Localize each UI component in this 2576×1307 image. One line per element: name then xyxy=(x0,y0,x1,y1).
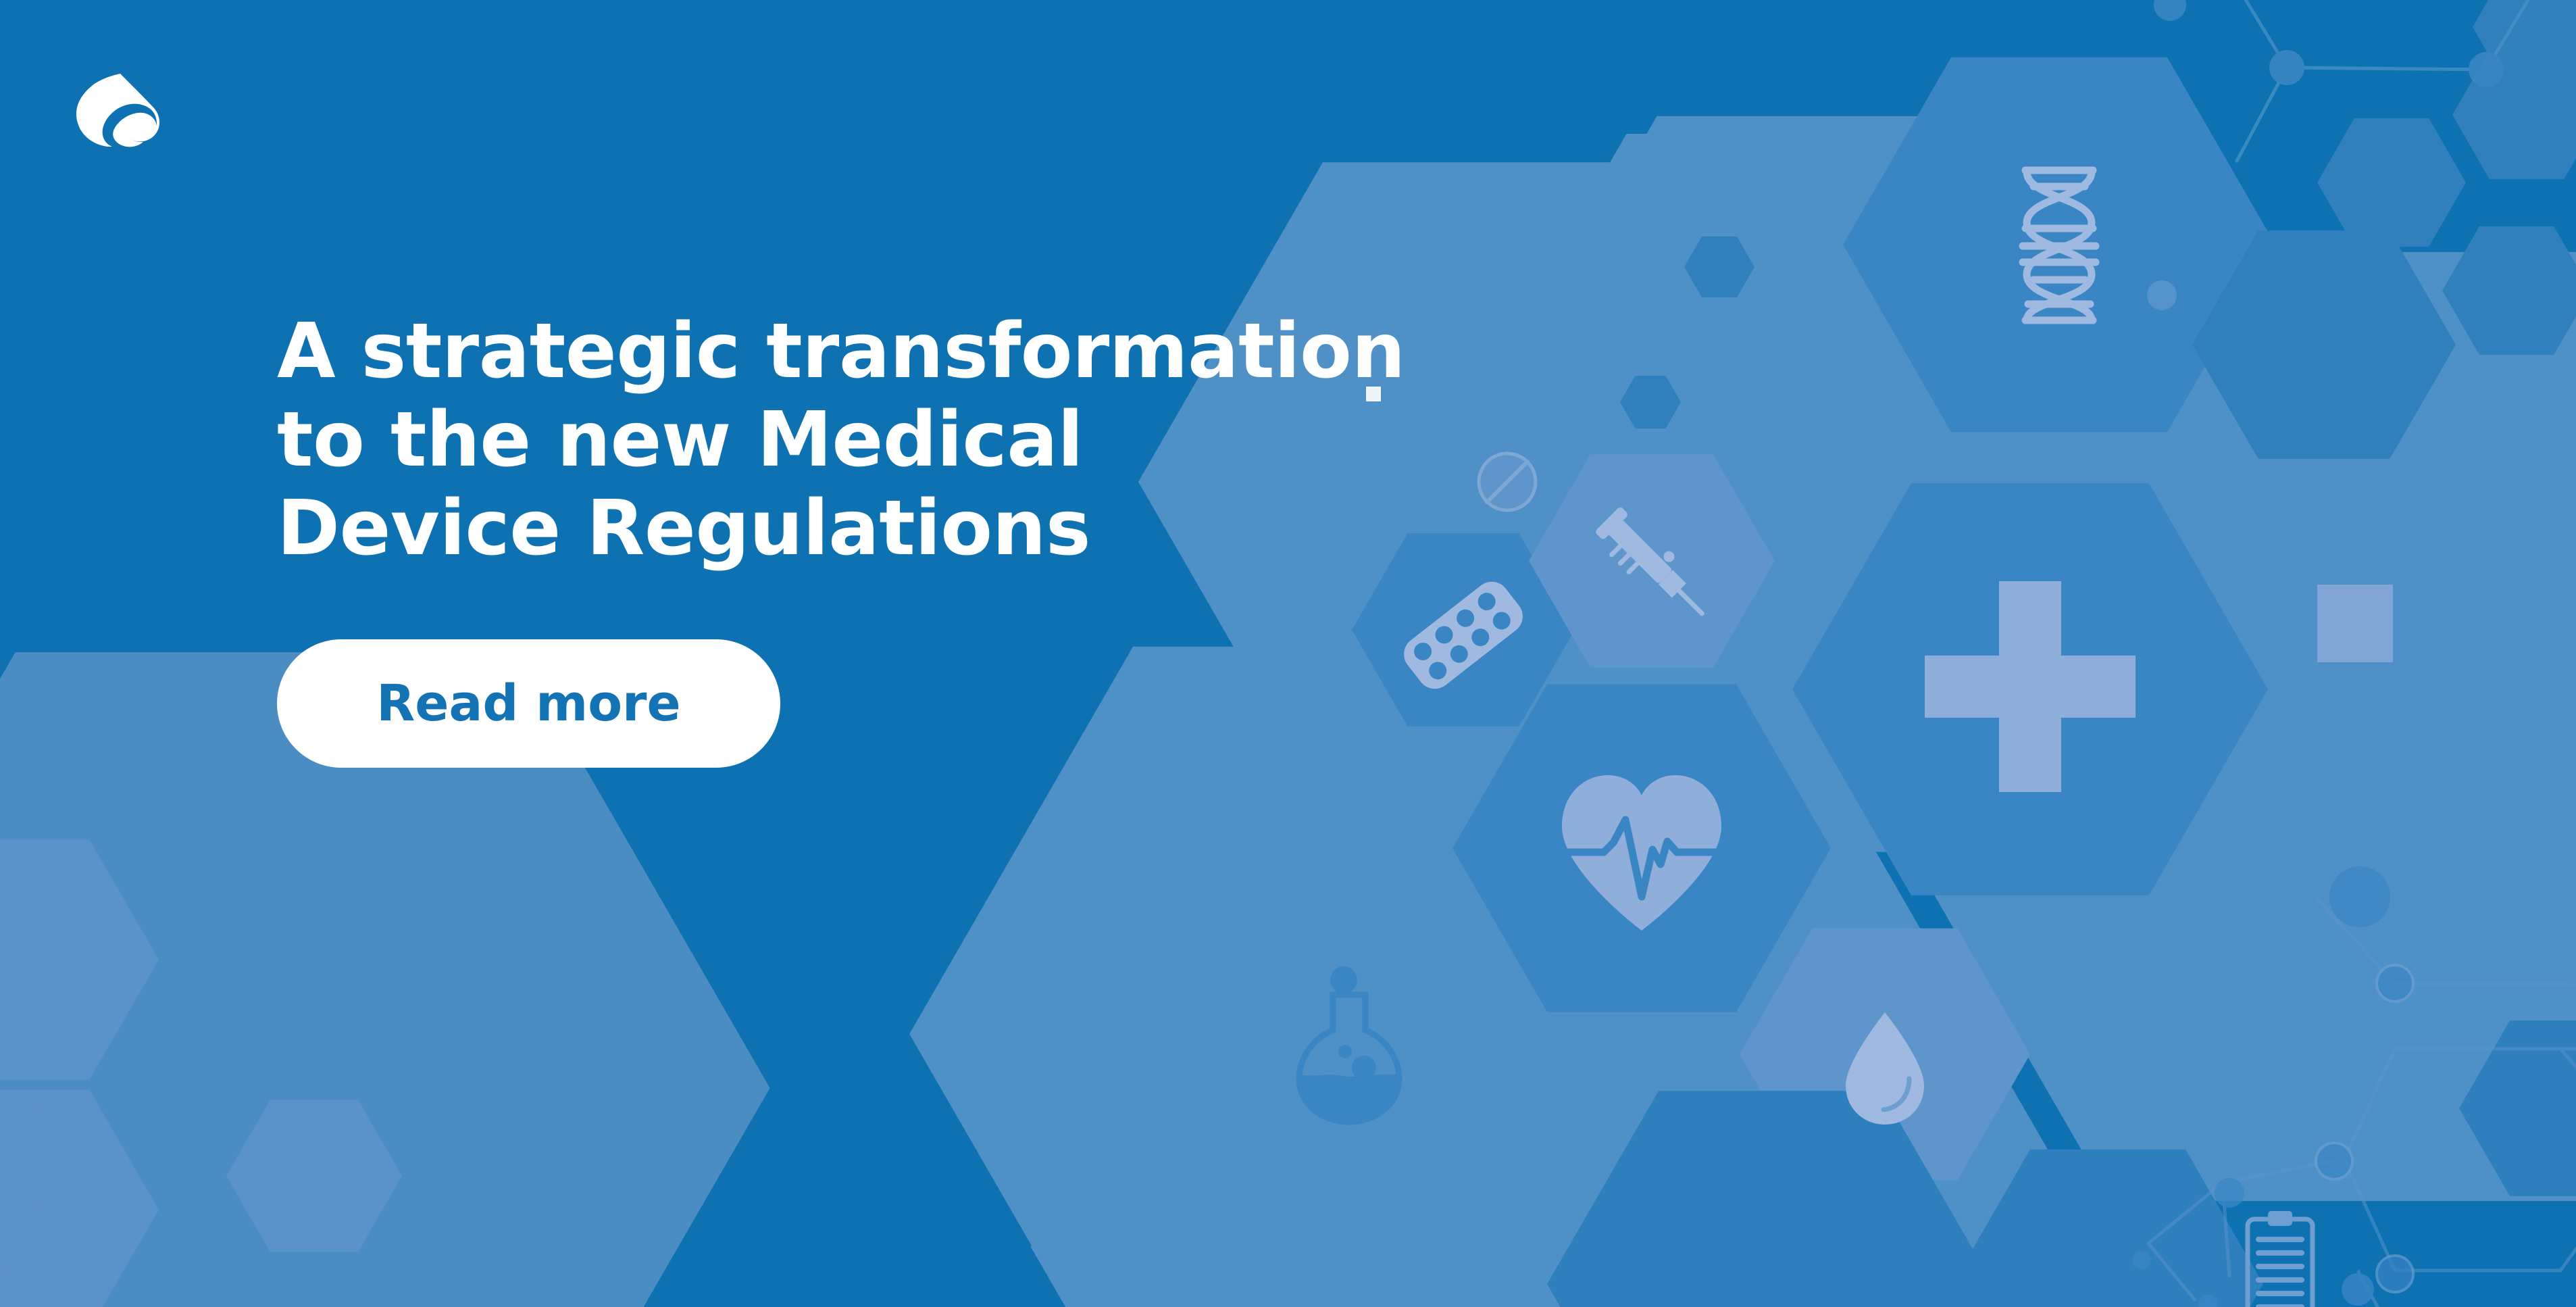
hex-syringe xyxy=(1529,454,1775,667)
hex-heart xyxy=(1453,685,1831,1012)
lab-flask-icon xyxy=(1299,966,1399,1122)
logo-teardrop-icon xyxy=(76,74,159,147)
hex-cross xyxy=(1792,483,2268,895)
hex-group-filled xyxy=(1352,0,2576,1307)
cta-wrapper: Read more xyxy=(277,639,1459,768)
company-logo[interactable] xyxy=(68,71,169,159)
medical-cross-icon xyxy=(1925,581,2136,792)
syringe-icon xyxy=(1592,503,1718,629)
heart-pulse-icon xyxy=(1562,775,1721,931)
promo-banner: A strategic transformation to the new Me… xyxy=(0,0,2576,1307)
hex-dna xyxy=(1843,57,2275,432)
clipboard-icon xyxy=(2248,1211,2313,1307)
network-nodes xyxy=(2132,0,2576,1307)
hex-drop xyxy=(1740,929,2030,1180)
hex-group-bottom-left xyxy=(0,839,419,1307)
water-drop-icon xyxy=(1846,1012,1924,1125)
dna-helix-icon xyxy=(2023,170,2096,320)
read-more-button[interactable]: Read more xyxy=(277,639,780,768)
page-title: A strategic transformation to the new Me… xyxy=(277,307,1459,573)
hero-content: A strategic transformation to the new Me… xyxy=(277,307,1459,768)
pill-icon xyxy=(1479,453,1536,510)
